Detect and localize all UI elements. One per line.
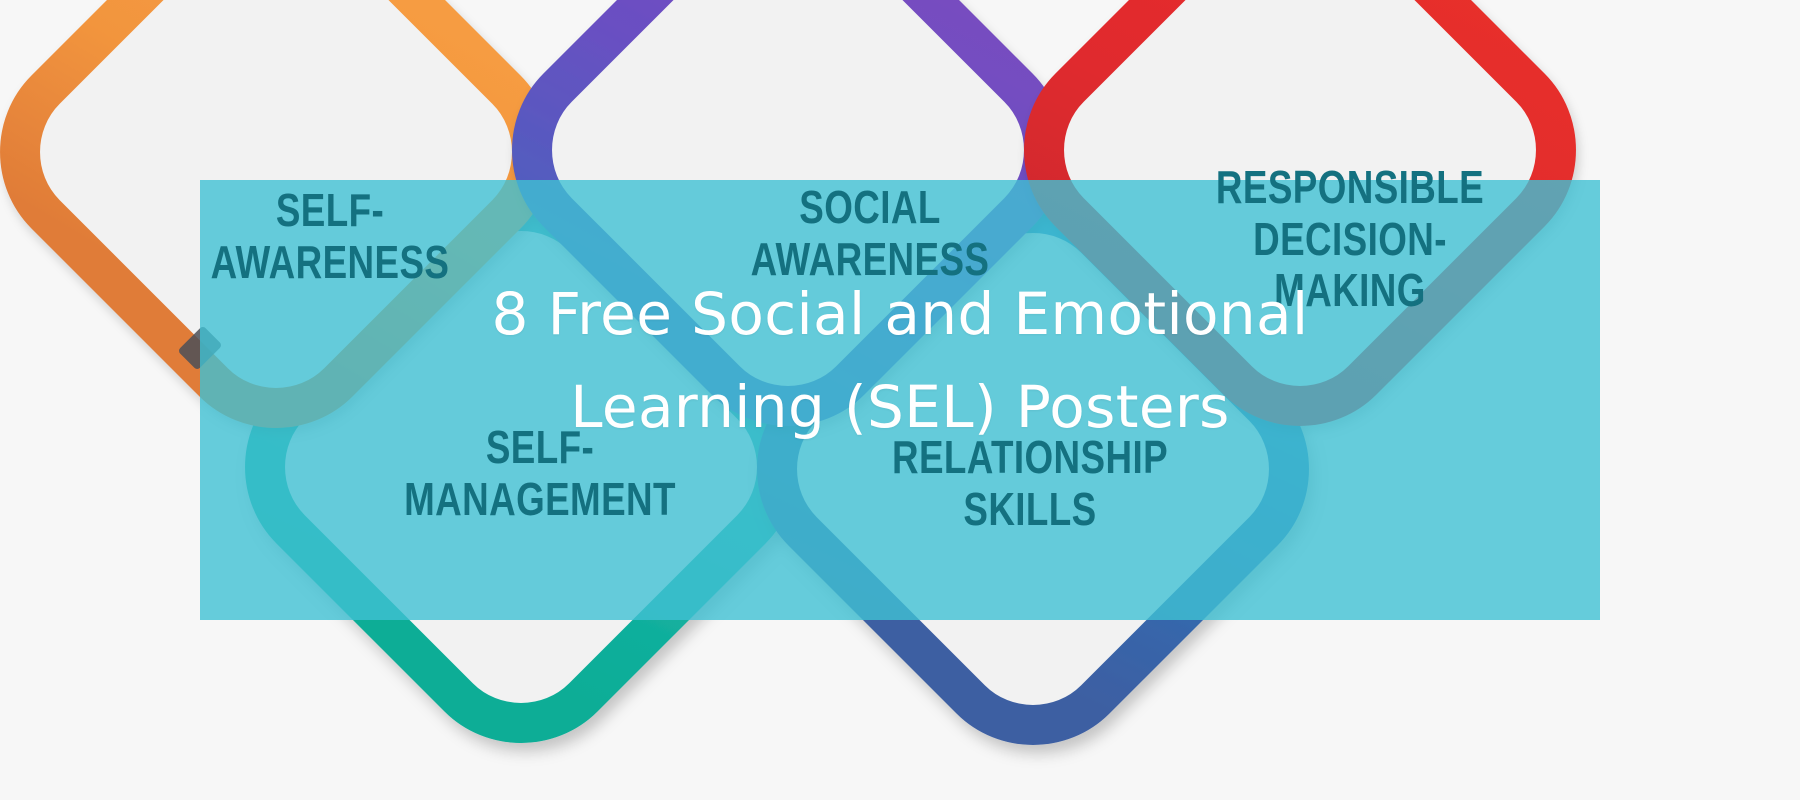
- page-title: 8 Free Social and Emotional Learning (SE…: [200, 268, 1600, 454]
- page-title-line-1: 8 Free Social and Emotional: [200, 268, 1600, 361]
- sel-poster-hero-banner: SELF- AWARENESS SOCIAL AWARENESS RESPONS…: [0, 0, 1800, 800]
- page-title-line-2: Learning (SEL) Posters: [200, 361, 1600, 454]
